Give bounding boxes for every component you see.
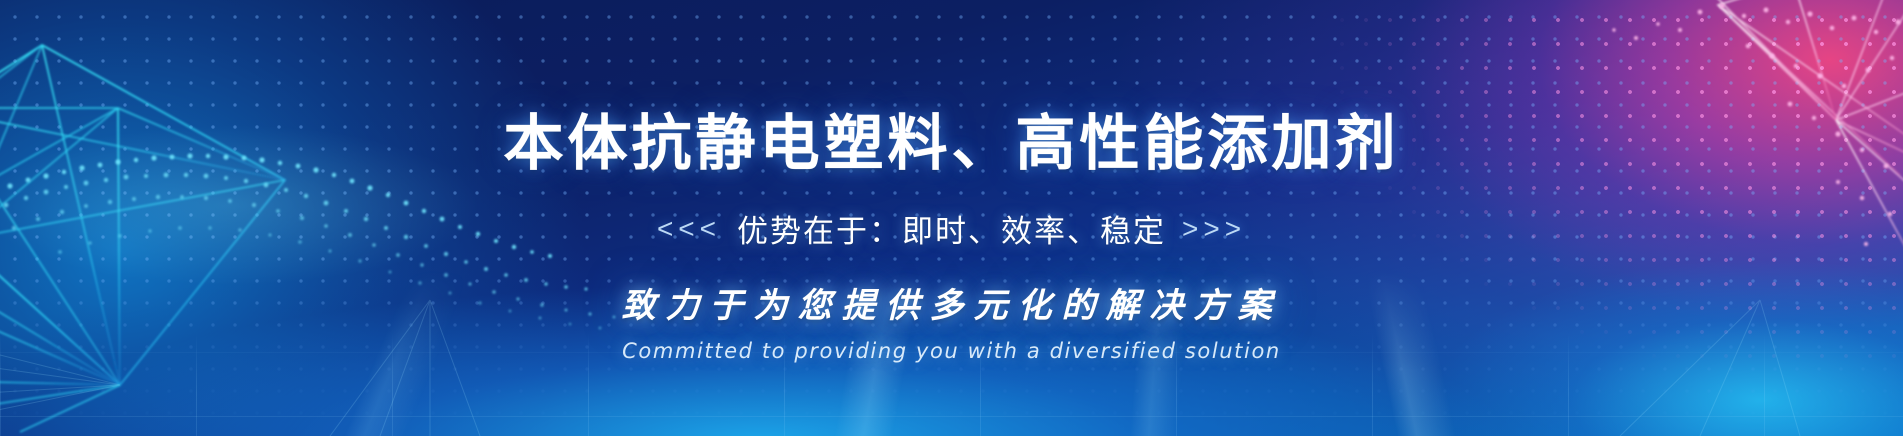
hero-banner: 本体抗静电塑料、高性能添加剂 <<< 优势在于：即时、效率、稳定 >>> 致力于… bbox=[0, 0, 1903, 436]
chevron-right-icon: >>> bbox=[1182, 213, 1246, 245]
chevron-left-icon: <<< bbox=[657, 213, 721, 245]
banner-subtitle-row: <<< 优势在于：即时、效率、稳定 >>> bbox=[657, 206, 1246, 251]
banner-content: 本体抗静电塑料、高性能添加剂 <<< 优势在于：即时、效率、稳定 >>> 致力于… bbox=[0, 0, 1903, 436]
banner-script-slogan: 致力于为您提供多元化的解决方案 bbox=[622, 278, 1282, 327]
banner-title: 本体抗静电塑料、高性能添加剂 bbox=[504, 114, 1400, 174]
banner-english-tagline: Committed to providing you with a divers… bbox=[622, 339, 1281, 363]
banner-subtitle: 优势在于：即时、效率、稳定 bbox=[737, 206, 1166, 251]
